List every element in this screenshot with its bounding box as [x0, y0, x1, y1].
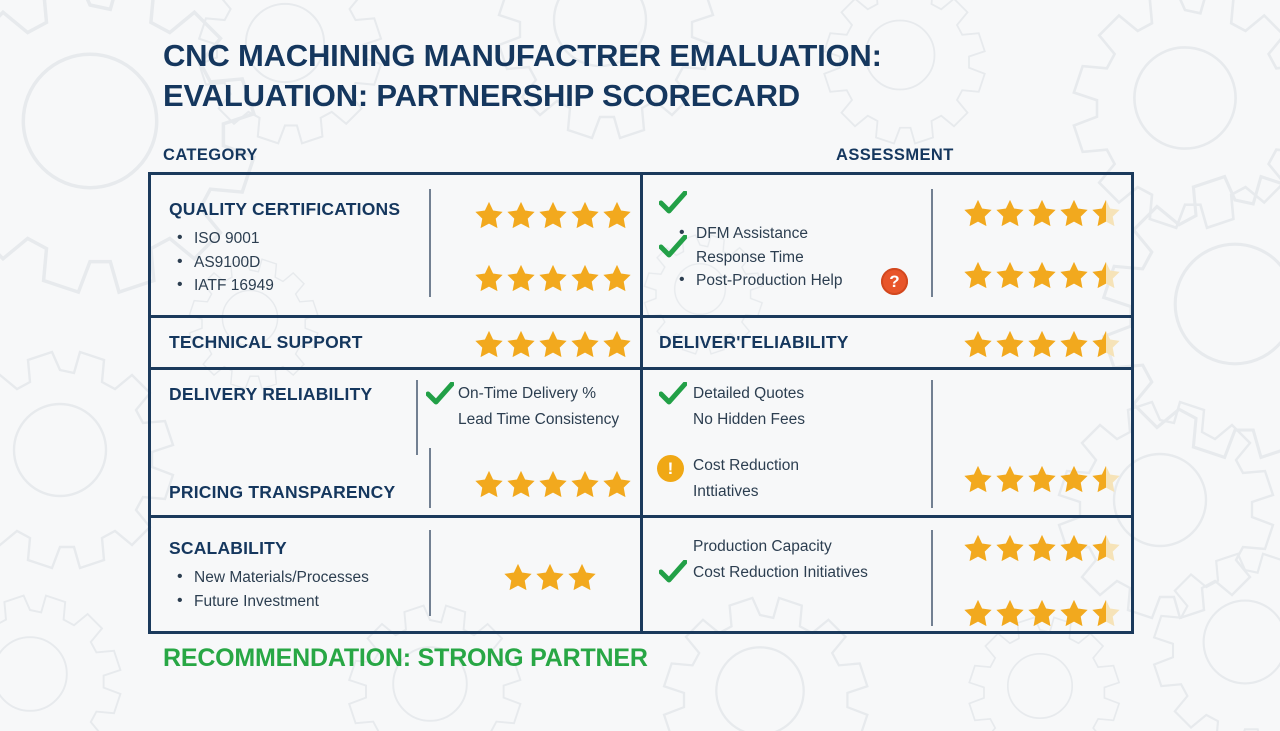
list-item: New Materials/Processes [173, 566, 369, 590]
cell-divider [429, 530, 431, 616]
assessment-note: Detailed Quotes [693, 382, 804, 406]
star-icon [995, 533, 1025, 563]
star-icon [1027, 198, 1057, 228]
recommendation-text: RECOMMENDATION: STRONG PARTNER [163, 644, 648, 673]
star-icon [995, 329, 1025, 359]
table-row: DELIVERY RELIABILITY PRICING TRANSPARENC… [151, 367, 1131, 515]
star-icon [602, 263, 632, 293]
list-item: AS9100D [173, 251, 274, 275]
star-icon [506, 469, 536, 499]
star-icon [1027, 329, 1057, 359]
category-bullet-list: ISO 9001 AS9100D IATF 16949 [173, 227, 274, 298]
star-icon [963, 329, 993, 359]
star-icon [538, 329, 568, 359]
star-icon [995, 464, 1025, 494]
page-title: CNC MACHINING MANUFACTRER EMALUATION: EV… [163, 36, 1123, 117]
table-row: QUALITY CERTIFICATIONS ISO 9001 AS9100D … [151, 175, 1131, 315]
rating-stars [474, 469, 632, 499]
star-icon [995, 198, 1025, 228]
star-icon [963, 464, 993, 494]
column-header-assessment: ASSESSMENT [836, 146, 954, 165]
star-icon [1059, 260, 1089, 290]
column-header-category: CATEGORY [163, 146, 258, 165]
cell-divider [416, 380, 418, 455]
table-row: SCALABILITY New Materials/Processes Futu… [151, 515, 1131, 631]
rating-stars [963, 464, 1121, 494]
check-icon [426, 382, 454, 406]
star-icon [567, 562, 597, 592]
star-icon [963, 598, 993, 628]
table-row: TECHNICAL SUPPORT DELIVER'ΓELIABILITY [151, 315, 1131, 367]
half-star-icon [1091, 533, 1121, 563]
star-icon [602, 329, 632, 359]
list-item: Post-Production Help [675, 269, 842, 293]
star-icon [570, 200, 600, 230]
half-star-icon [1091, 260, 1121, 290]
star-icon [1027, 260, 1057, 290]
rating-stars [503, 562, 597, 592]
check-icon [659, 382, 687, 406]
star-icon [538, 200, 568, 230]
star-icon [602, 200, 632, 230]
row4-category-cell: SCALABILITY New Materials/Processes Futu… [151, 518, 640, 631]
rating-stars [963, 198, 1121, 228]
rating-stars [474, 200, 632, 230]
row1-category-cell: QUALITY CERTIFICATIONS ISO 9001 AS9100D … [151, 175, 640, 315]
row4-assessment-cell: Production Capacity Cost Reduction Initi… [640, 518, 1131, 631]
cell-divider [429, 189, 431, 297]
star-icon [535, 562, 565, 592]
star-icon [1059, 198, 1089, 228]
star-icon [474, 263, 504, 293]
star-icon [570, 469, 600, 499]
page-title-line2: EVALUATION: PARTNERSHIP SCORECARD [163, 76, 1123, 116]
rating-stars [963, 329, 1121, 359]
category-title: DELIVER'ΓELIABILITY [659, 332, 849, 353]
assessment-note: No Hidden Fees [693, 408, 805, 432]
star-icon [1059, 329, 1089, 359]
row2-category-cell: TECHNICAL SUPPORT [151, 318, 640, 367]
rating-stars [963, 260, 1121, 290]
category-bullet-list: New Materials/Processes Future Investmen… [173, 566, 369, 613]
half-star-icon [1091, 464, 1121, 494]
half-star-icon [1091, 198, 1121, 228]
star-icon [963, 260, 993, 290]
row3-assessment-cell: Detailed Quotes No Hidden Fees ! Cost Re… [640, 370, 1131, 515]
star-icon [570, 263, 600, 293]
cell-divider [931, 380, 933, 508]
assessment-bullet-list: DFM Assistance Response Time Post-Produc… [675, 222, 842, 293]
warning-badge-icon: ! [657, 455, 684, 482]
star-icon [1059, 533, 1089, 563]
category-title: PRICING TRANSPARENCY [169, 482, 395, 503]
category-title: DELIVERY RELIABILITY [169, 384, 372, 405]
star-icon [963, 198, 993, 228]
assessment-note: Inttiatives [693, 480, 758, 504]
assessment-note: On-Time Delivery % [458, 382, 596, 406]
star-icon [506, 200, 536, 230]
category-title: SCALABILITY [169, 538, 287, 559]
check-icon [659, 560, 687, 584]
star-icon [1059, 598, 1089, 628]
category-title: TECHNICAL SUPPORT [169, 332, 363, 353]
star-icon [506, 263, 536, 293]
check-icon [659, 191, 687, 215]
star-icon [1027, 533, 1057, 563]
star-icon [474, 200, 504, 230]
star-icon [995, 260, 1025, 290]
star-icon [1027, 464, 1057, 494]
star-icon [503, 562, 533, 592]
category-title: QUALITY CERTIFICATIONS [169, 199, 400, 220]
assessment-note: Production Capacity [693, 535, 832, 559]
rating-stars [963, 533, 1121, 563]
star-icon [1059, 464, 1089, 494]
star-icon [963, 533, 993, 563]
star-icon [538, 469, 568, 499]
star-icon [1027, 598, 1057, 628]
star-icon [570, 329, 600, 359]
question-badge-icon: ? [881, 268, 908, 295]
scorecard-sheet: CNC MACHINING MANUFACTRER EMALUATION: EV… [0, 0, 1280, 731]
star-icon [602, 469, 632, 499]
star-icon [538, 263, 568, 293]
row3-category-cell: DELIVERY RELIABILITY PRICING TRANSPARENC… [151, 370, 640, 515]
rating-stars [963, 598, 1121, 628]
list-item: Future Investment [173, 590, 369, 614]
star-icon [995, 598, 1025, 628]
star-icon [506, 329, 536, 359]
list-item: Response Time [675, 246, 842, 270]
rating-stars [474, 329, 632, 359]
star-icon [474, 329, 504, 359]
row1-assessment-cell: DFM Assistance Response Time Post-Produc… [640, 175, 1131, 315]
half-star-icon [1091, 598, 1121, 628]
row2-assessment-cell: DELIVER'ΓELIABILITY [640, 318, 1131, 367]
assessment-note: Cost Reduction [693, 454, 799, 478]
scorecard-table: QUALITY CERTIFICATIONS ISO 9001 AS9100D … [148, 172, 1134, 634]
list-item: IATF 16949 [173, 274, 274, 298]
list-item: DFM Assistance [675, 222, 842, 246]
rating-stars [474, 263, 632, 293]
half-star-icon [1091, 329, 1121, 359]
cell-divider [931, 189, 933, 297]
cell-divider [931, 530, 933, 626]
assessment-note: Lead Time Consistency [458, 408, 619, 432]
list-item: ISO 9001 [173, 227, 274, 251]
cell-divider [429, 448, 431, 508]
assessment-note: Cost Reduction Initiatives [693, 561, 868, 585]
star-icon [474, 469, 504, 499]
page-title-line1: CNC MACHINING MANUFACTRER EMALUATION: [163, 38, 882, 73]
